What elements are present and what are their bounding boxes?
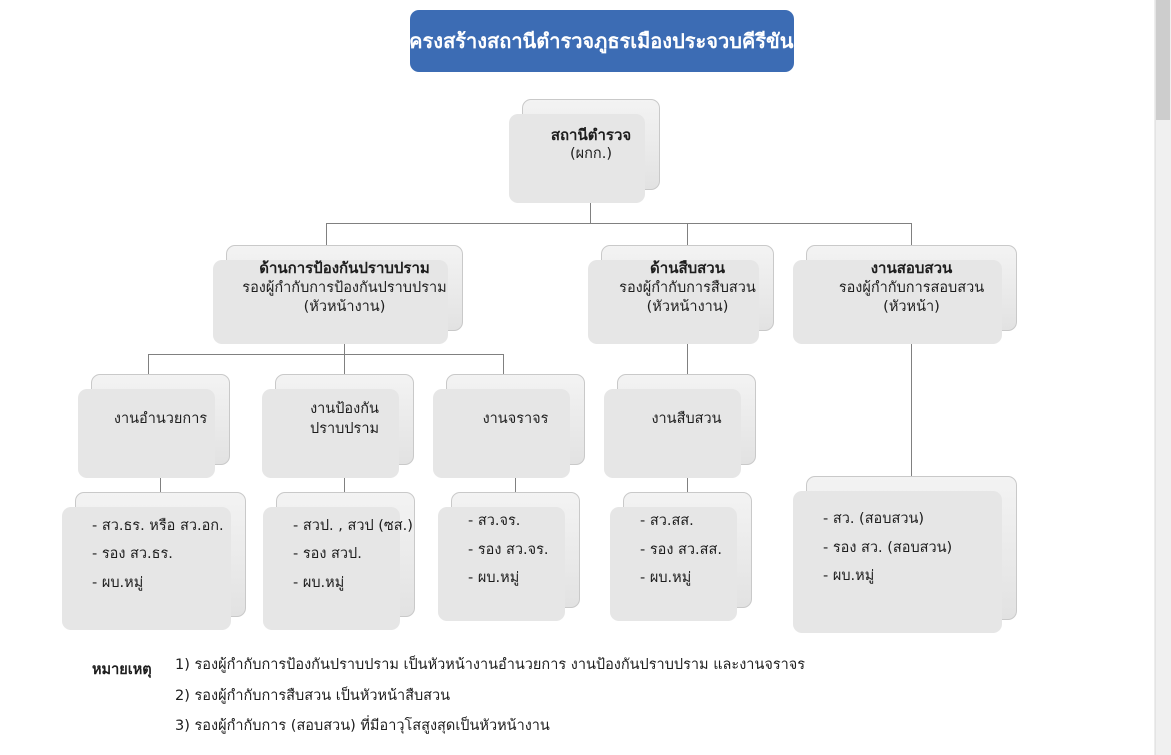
chart-title-banner: โครงสร้างสถานีตำรวจภูธรเมืองประจวบคีรีขั… — [410, 10, 794, 72]
node-investigation-work-title: งานสืบสวน — [651, 410, 721, 430]
list-item: - รอง สว.จร. — [468, 536, 549, 565]
node-investigation-division-title: ด้านสืบสวน — [650, 258, 725, 278]
node-traffic-work[interactable]: งานจราจร — [446, 374, 585, 465]
leaf-investigation-positions[interactable]: - สว.สส. - รอง สว.สส. - ผบ.หมู่ — [623, 492, 752, 608]
list-item: - สว.จร. — [468, 507, 520, 536]
node-inquiry-division-subtitle: รองผู้กำกับการสอบสวน — [839, 279, 984, 299]
connector-drop-prevention-work — [344, 354, 345, 374]
connector-inquiry-to-leaf — [911, 331, 912, 476]
node-prevention-division-title: ด้านการป้องกันปราบปราม — [259, 258, 430, 278]
node-prevention-work-title2: ปราบปราม — [310, 420, 379, 440]
connector-drop-investigation — [687, 223, 688, 245]
node-prevention-division-role: (หัวหน้างาน) — [304, 298, 386, 318]
node-investigation-division-role: (หัวหน้างาน) — [647, 298, 729, 318]
node-inquiry-division[interactable]: งานสอบสวน รองผู้กำกับการสอบสวน (หัวหน้า) — [806, 245, 1017, 331]
footnote-item-1: 1) รองผู้กำกับการป้องกันปราบปราม เป็นหัว… — [175, 655, 992, 686]
node-police-station-title: สถานีตำรวจ — [551, 125, 631, 145]
leaf-traffic-positions[interactable]: - สว.จร. - รอง สว.จร. - ผบ.หมู่ — [451, 492, 580, 608]
connector-level3-bus — [148, 354, 503, 355]
node-police-station-subtitle: (ผกก.) — [570, 145, 612, 165]
node-prevention-work-title: งานป้องกัน — [310, 400, 379, 420]
connector-drop-traffic-work — [503, 354, 504, 374]
list-item: - รอง สวป. — [293, 540, 362, 569]
node-investigation-division[interactable]: ด้านสืบสวน รองผู้กำกับการสืบสวน (หัวหน้า… — [601, 245, 774, 331]
list-item: - สวป. , สวป (ซส.) — [293, 512, 413, 541]
list-item: - สว.สส. — [640, 507, 694, 536]
footnotes: หมายเหตุ 1) รองผู้กำกับการป้องกันปราบปรา… — [92, 655, 992, 747]
leaf-admin-positions[interactable]: - สว.ธร. หรือ สว.อก. - รอง สว.ธร. - ผบ.ห… — [75, 492, 246, 617]
list-item: - รอง สว. (สอบสวน) — [823, 534, 952, 563]
node-prevention-division[interactable]: ด้านการป้องกันปราบปราม รองผู้กำกับการป้อ… — [226, 245, 463, 331]
connector-level2-bus — [326, 223, 911, 224]
connector-drop-inquiry — [911, 223, 912, 245]
org-chart-page: โครงสร้างสถานีตำรวจภูธรเมืองประจวบคีรีขั… — [0, 0, 1171, 755]
vertical-scrollbar-thumb[interactable] — [1156, 0, 1170, 120]
list-item: - สว. (สอบสวน) — [823, 505, 924, 534]
list-item: - รอง สว.สส. — [640, 536, 722, 565]
node-inquiry-division-title: งานสอบสวน — [871, 258, 953, 278]
footnote-item-3: 3) รองผู้กำกับการ (สอบสวน) ที่มีอาวุโสสู… — [175, 716, 992, 747]
connector-drop-prevention — [326, 223, 327, 245]
list-item: - ผบ.หมู่ — [823, 562, 874, 591]
node-prevention-division-subtitle: รองผู้กำกับการป้องกันปราบปราม — [242, 279, 446, 299]
node-investigation-work[interactable]: งานสืบสวน — [617, 374, 756, 465]
list-item: - ผบ.หมู่ — [640, 564, 691, 593]
node-traffic-work-title: งานจราจร — [483, 410, 549, 430]
vertical-scrollbar-track[interactable] — [1155, 0, 1171, 755]
node-prevention-work[interactable]: งานป้องกัน ปราบปราม — [275, 374, 414, 465]
leaf-prevention-positions[interactable]: - สวป. , สวป (ซส.) - รอง สวป. - ผบ.หมู่ — [276, 492, 415, 617]
node-admin-work-title: งานอำนวยการ — [114, 410, 207, 430]
footnote-item-2: 2) รองผู้กำกับการสืบสวน เป็นหัวหน้าสืบสว… — [175, 686, 992, 717]
list-item: - รอง สว.ธร. — [92, 540, 173, 569]
leaf-inquiry-positions[interactable]: - สว. (สอบสวน) - รอง สว. (สอบสวน) - ผบ.ห… — [806, 476, 1017, 620]
footnotes-label: หมายเหตุ — [92, 658, 152, 681]
node-inquiry-division-role: (หัวหน้า) — [883, 298, 940, 318]
list-item: - สว.ธร. หรือ สว.อก. — [92, 512, 224, 541]
page-title: โครงสร้างสถานีตำรวจภูธรเมืองประจวบคีรีขั… — [398, 25, 805, 57]
node-admin-work[interactable]: งานอำนวยการ — [91, 374, 230, 465]
node-police-station[interactable]: สถานีตำรวจ (ผกก.) — [522, 99, 660, 190]
list-item: - ผบ.หมู่ — [468, 564, 519, 593]
list-item: - ผบ.หมู่ — [293, 569, 344, 598]
connector-drop-admin-work — [148, 354, 149, 374]
list-item: - ผบ.หมู่ — [92, 569, 143, 598]
node-investigation-division-subtitle: รองผู้กำกับการสืบสวน — [619, 279, 756, 299]
